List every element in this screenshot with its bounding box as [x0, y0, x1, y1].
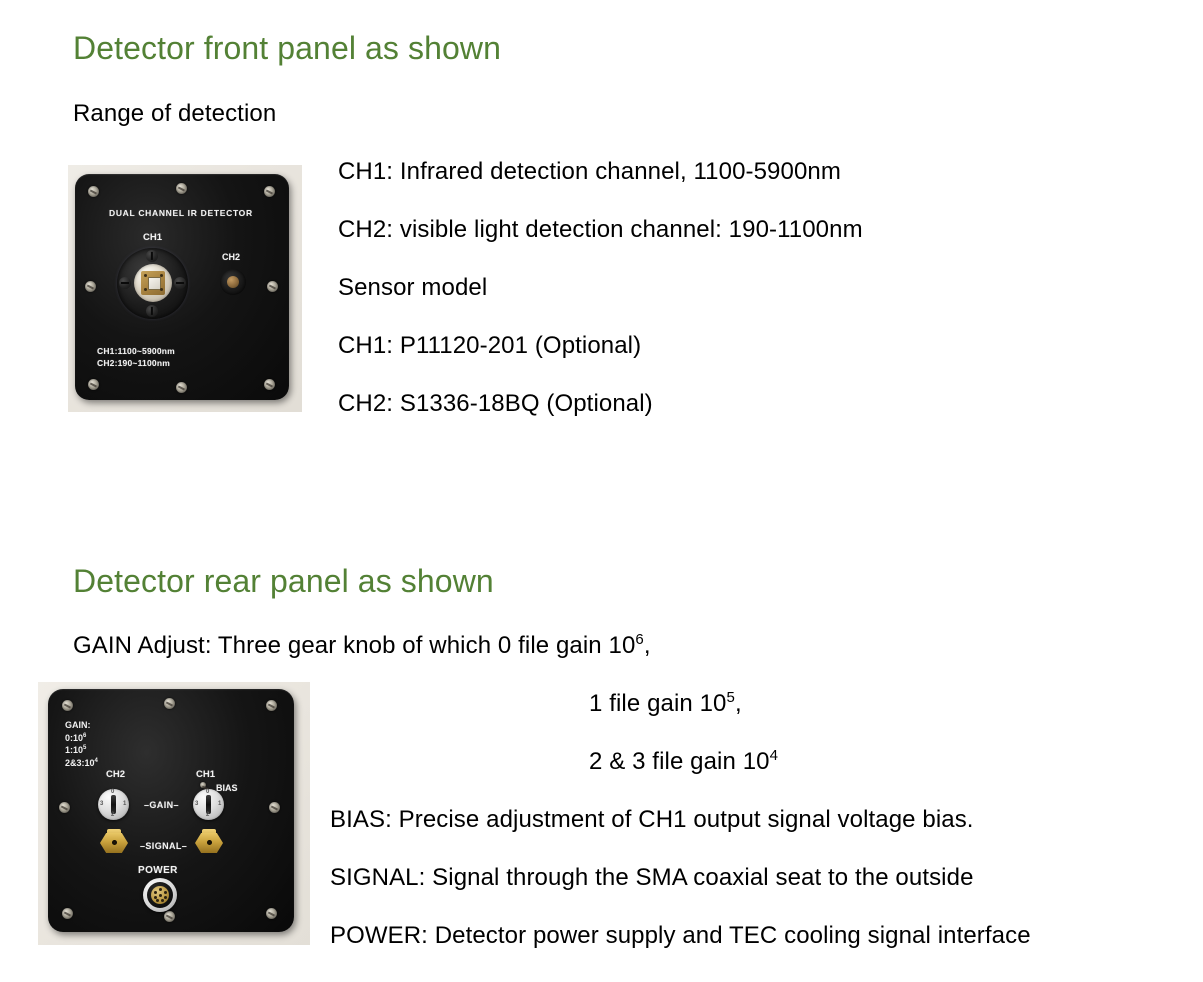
rear-panel-signal-row-label: –SIGNAL– [140, 841, 187, 851]
power-connector-face [151, 886, 169, 904]
knob-tick-3: 3 [100, 801, 103, 807]
gain-adjust-line-2: 1 file gain 105, [589, 690, 742, 718]
screw-icon [62, 700, 73, 711]
rear-panel-gain-1: 1:105 [65, 744, 98, 757]
power-connector[interactable] [143, 878, 177, 912]
ch2-gain-knob[interactable]: 0 1 2 3 [98, 789, 129, 820]
screw-icon [146, 250, 158, 262]
front-panel-ch1-label: CH1 [143, 232, 162, 243]
front-panel-spec-line-1: CH1:1100~5900nm [97, 346, 175, 356]
gain-adjust-line-2-suffix: , [735, 690, 742, 717]
screw-icon [88, 186, 99, 197]
screw-icon [164, 911, 175, 922]
gain-adjust-line-1-suffix: , [644, 632, 651, 659]
rear-panel-gain-0: 0:106 [65, 732, 98, 745]
screw-icon [119, 277, 131, 289]
ch1-gain-knob[interactable]: 0 1 2 3 [193, 789, 224, 820]
screw-icon [264, 186, 275, 197]
gain-adjust-line-3-text: 2 & 3 file gain 10 [589, 748, 770, 775]
front-panel-ch2-label: CH2 [222, 252, 240, 262]
gain-adjust-line-1-text: GAIN Adjust: Three gear knob of which 0 … [73, 632, 635, 659]
screw-icon [62, 908, 73, 919]
knob-tick-3: 3 [195, 801, 198, 807]
ch1-sensor-mount [117, 248, 188, 319]
screw-icon [176, 183, 187, 194]
power-connector-shell [147, 882, 173, 908]
screw-icon [59, 802, 70, 813]
ch1-sensor-package [134, 264, 172, 302]
screw-icon [176, 382, 187, 393]
knob-tick-2: 2 [111, 812, 114, 818]
gain-adjust-line-1: GAIN Adjust: Three gear knob of which 0 … [73, 632, 651, 660]
screw-icon [174, 277, 186, 289]
gain-adjust-line-2-exponent: 5 [727, 689, 735, 706]
front-panel-heading: Detector front panel as shown [73, 30, 501, 67]
knob-tick-1: 1 [218, 801, 221, 807]
front-panel-title-text: DUAL CHANNEL IR DETECTOR [109, 208, 253, 218]
rear-panel-faceplate: GAIN: 0:106 1:105 2&3:104 CH2 CH1 BIAS 0… [48, 689, 294, 932]
front-spec-line-ch1-model: CH1: P11120-201 (Optional) [338, 332, 641, 360]
rear-panel-gain-23: 2&3:104 [65, 757, 98, 770]
gain-adjust-line-3: 2 & 3 file gain 104 [589, 748, 778, 776]
rear-panel-photo: GAIN: 0:106 1:105 2&3:104 CH2 CH1 BIAS 0… [38, 682, 310, 945]
sensor-model-label: Sensor model [338, 274, 487, 302]
gain-adjust-line-3-exponent: 4 [770, 747, 778, 764]
front-spec-line-ch1-range: CH1: Infrared detection channel, 1100-59… [338, 158, 841, 186]
screw-icon [264, 379, 275, 390]
ch2-sma-signal-connector[interactable] [100, 829, 128, 857]
gain-adjust-line-1-exponent: 6 [635, 631, 643, 648]
screw-icon [88, 379, 99, 390]
ch1-sensor-chip [148, 277, 161, 290]
screw-icon [266, 700, 277, 711]
ch1-sma-signal-connector[interactable] [195, 829, 223, 857]
screw-icon [266, 908, 277, 919]
rear-panel-gain-title: GAIN: [65, 719, 98, 732]
rear-panel-power-label: POWER [138, 865, 178, 876]
gain-adjust-line-2-text: 1 file gain 10 [589, 690, 727, 717]
knob-tick-0: 0 [111, 789, 114, 795]
front-panel-spec-line-2: CH2:190~1100nm [97, 358, 170, 368]
bias-trimmer-screw-icon[interactable] [200, 782, 206, 788]
screw-icon [146, 305, 158, 317]
rear-panel-ch1-label: CH1 [196, 769, 215, 780]
ch2-sensor-mount [220, 269, 246, 295]
rear-panel-gain-legend: GAIN: 0:106 1:105 2&3:104 [65, 719, 98, 769]
rear-panel-heading: Detector rear panel as shown [73, 563, 494, 600]
front-panel-photo: DUAL CHANNEL IR DETECTOR CH1 CH2 CH1:110… [68, 165, 302, 412]
range-of-detection-label: Range of detection [73, 100, 276, 128]
knob-tick-2: 2 [206, 812, 209, 818]
rear-panel-bias-label: BIAS [216, 783, 238, 793]
screw-icon [267, 281, 278, 292]
screw-icon [164, 698, 175, 709]
rear-spec-line-signal: SIGNAL: Signal through the SMA coaxial s… [330, 864, 974, 892]
rear-panel-ch2-label: CH2 [106, 769, 125, 780]
screw-icon [85, 281, 96, 292]
rear-spec-line-power: POWER: Detector power supply and TEC coo… [330, 922, 1031, 950]
knob-tick-0: 0 [206, 789, 209, 795]
front-spec-line-ch2-model: CH2: S1336-18BQ (Optional) [338, 390, 653, 418]
screw-icon [269, 802, 280, 813]
front-panel-faceplate: DUAL CHANNEL IR DETECTOR CH1 CH2 CH1:110… [75, 174, 289, 400]
rear-panel-gain-row-label: –GAIN– [144, 800, 179, 810]
ch1-sensor-die [141, 271, 165, 295]
knob-tick-1: 1 [123, 801, 126, 807]
rear-spec-line-bias: BIAS: Precise adjustment of CH1 output s… [330, 806, 974, 834]
ch2-sensor-die [227, 276, 239, 288]
front-spec-line-ch2-range: CH2: visible light detection channel: 19… [338, 216, 863, 244]
